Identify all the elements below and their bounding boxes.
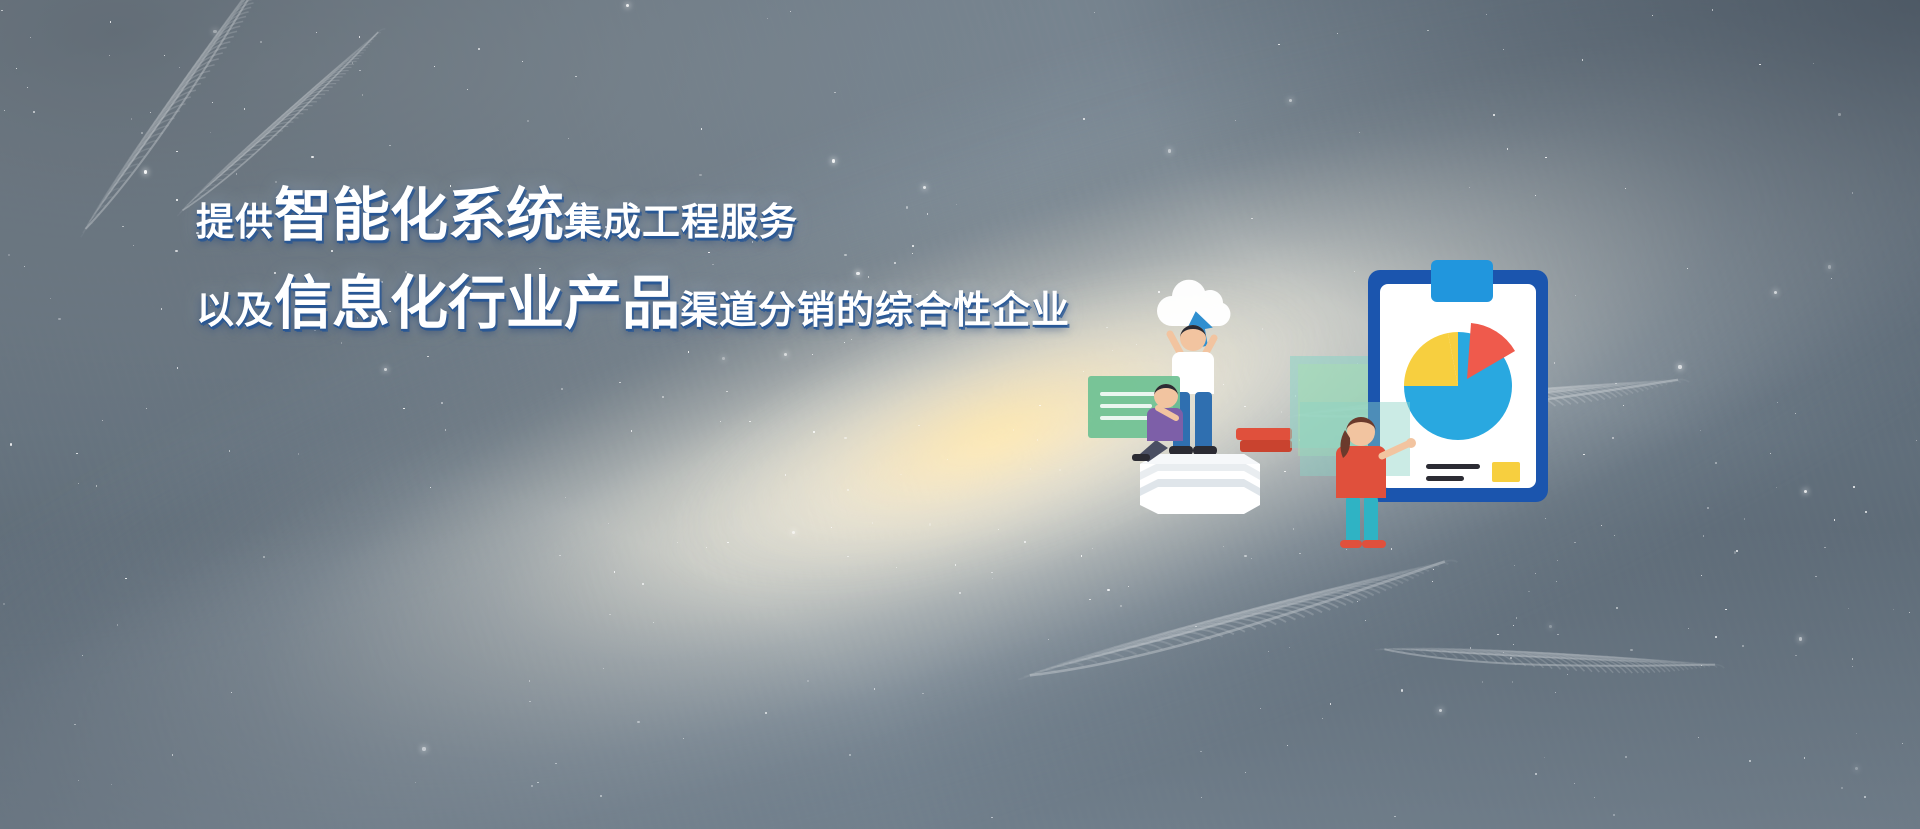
paper-line-2 <box>1426 476 1464 481</box>
headline-line-2: 以及信息化行业产品渠道分销的综合性企业 <box>196 274 1096 332</box>
headline-segment: 集成工程服务 <box>564 203 798 241</box>
headline-block: 提供智能化系统集成工程服务 以及信息化行业产品渠道分销的综合性企业 <box>196 186 1096 332</box>
business-analytics-illustration <box>1140 268 1680 568</box>
headline-segment: 信息化行业产品 <box>274 274 680 332</box>
paper-line-1 <box>1426 464 1480 469</box>
headline-segment: 提供 <box>196 203 274 241</box>
red-book-stack <box>1236 428 1292 452</box>
headline-line-1: 提供智能化系统集成工程服务 <box>196 186 1096 244</box>
book-stack <box>1140 454 1260 514</box>
headline-segment: 渠道分销的综合性企业 <box>680 291 1070 329</box>
paper-yellow-block <box>1492 462 1520 482</box>
clipboard-clip <box>1431 260 1493 302</box>
hero-banner: 提供智能化系统集成工程服务 以及信息化行业产品渠道分销的综合性企业 <box>0 0 1920 829</box>
headline-segment: 以及 <box>196 291 274 329</box>
headline-segment: 智能化系统 <box>274 186 564 244</box>
